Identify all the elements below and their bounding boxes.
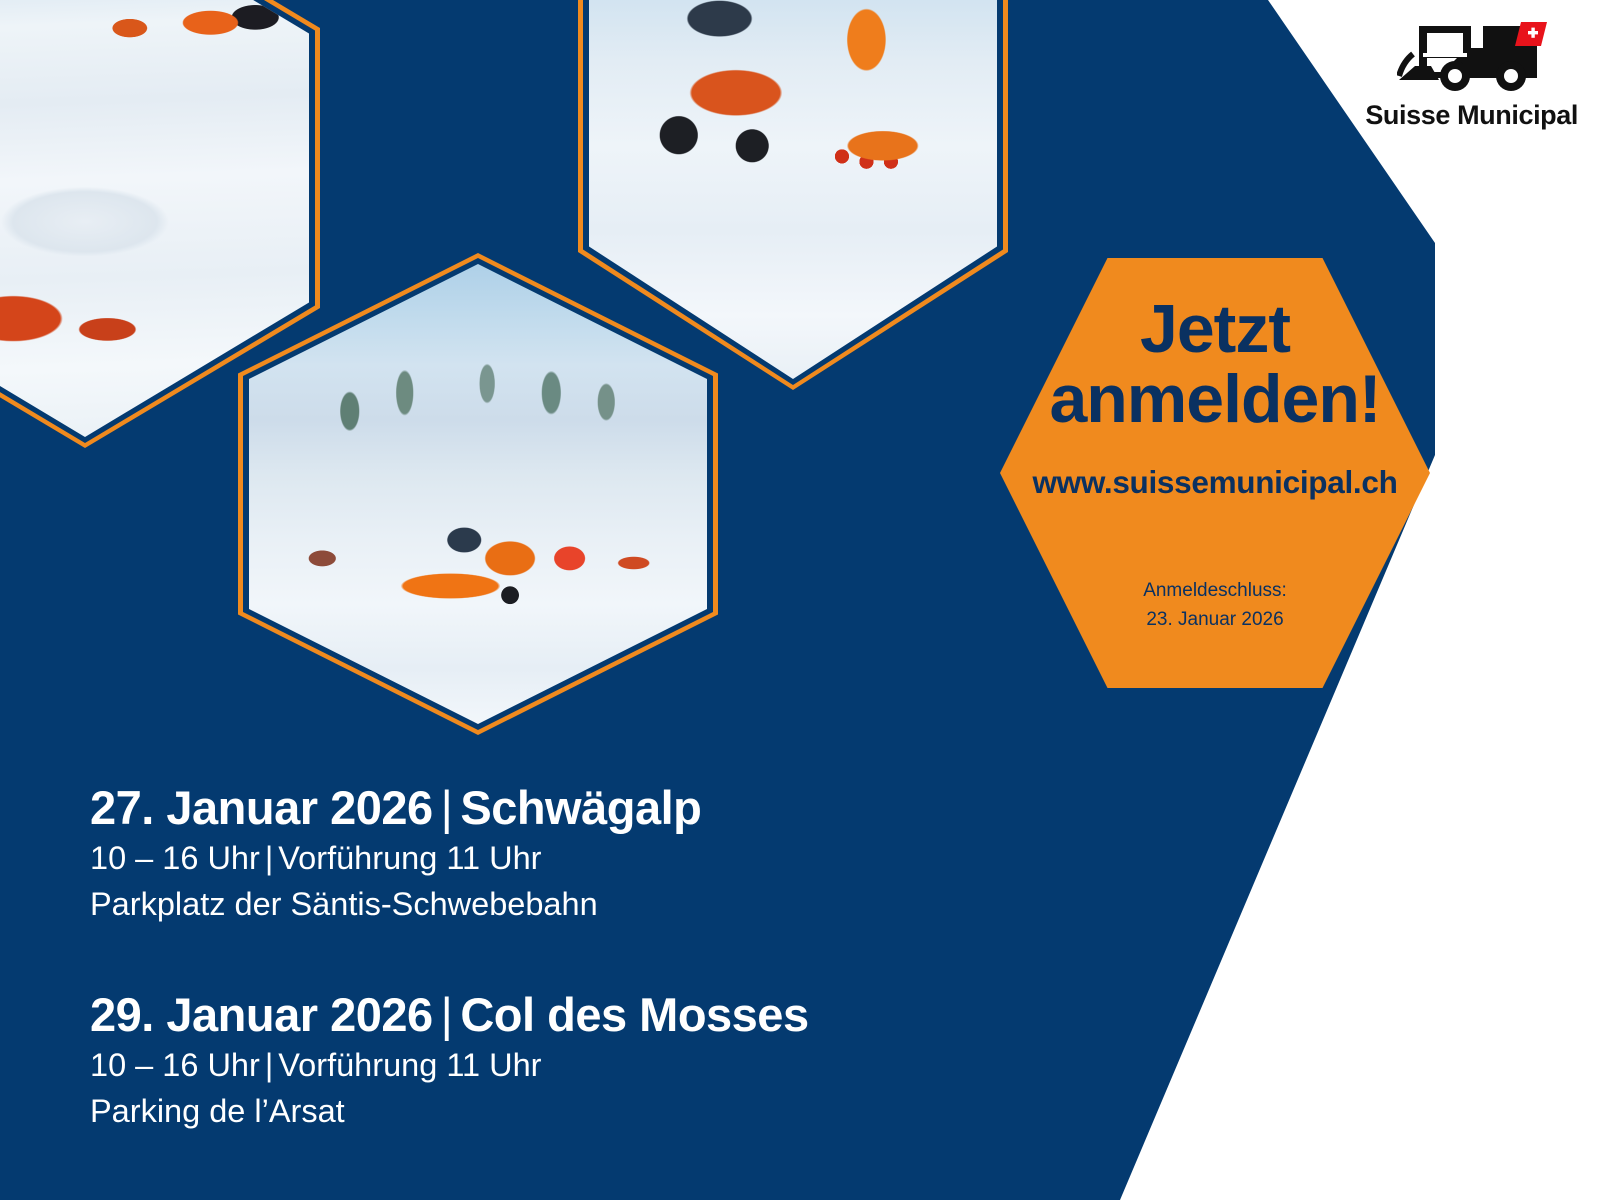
cta-deadline-label: Anmeldeschluss: <box>1143 577 1287 606</box>
event-venue: Parking de l’Arsat <box>90 1090 809 1134</box>
event-hours-line: 10 – 16 Uhr|Vorführung 11 Uhr <box>90 1044 809 1088</box>
event-demo: Vorführung 11 Uhr <box>278 840 541 876</box>
hex-photo-plow-truck-forest <box>238 253 718 735</box>
cta-headline-line1: Jetzt <box>1140 291 1290 367</box>
cta-website-url[interactable]: www.suissemunicipal.ch <box>1032 464 1397 501</box>
event-venue: Parkplatz der Säntis-Schwebebahn <box>90 883 809 927</box>
event-hours-separator: | <box>260 1047 278 1083</box>
logo-wordmark: Suisse Municipal <box>1365 100 1578 131</box>
event-demo: Vorführung 11 Uhr <box>278 1047 541 1083</box>
event-title-separator: | <box>433 988 461 1041</box>
event-date: 29. Januar 2026 <box>90 988 433 1041</box>
event-list: 27. Januar 2026|Schwägalp 10 – 16 Uhr|Vo… <box>90 780 809 1133</box>
event-title: 29. Januar 2026|Col des Mosses <box>90 987 809 1042</box>
suisse-municipal-logo: Suisse Municipal <box>1365 14 1578 131</box>
event-hours-line: 10 – 16 Uhr|Vorführung 11 Uhr <box>90 837 809 881</box>
event-date: 27. Januar 2026 <box>90 781 433 834</box>
event-hours: 10 – 16 Uhr <box>90 1047 260 1083</box>
event-hours-separator: | <box>260 840 278 876</box>
swiss-flag-icon <box>1515 22 1547 46</box>
cta-deadline: Anmeldeschluss: 23. Januar 2026 <box>1143 577 1287 635</box>
cta-headline-line2: anmelden! <box>1005 364 1425 434</box>
photo-image-plow-truck <box>249 264 707 724</box>
event-title: 27. Januar 2026|Schwägalp <box>90 780 809 835</box>
event-item: 29. Januar 2026|Col des Mosses 10 – 16 U… <box>90 987 809 1134</box>
event-location: Schwägalp <box>460 781 701 834</box>
hex-photo-clip <box>249 264 707 724</box>
event-poster: Jetzt anmelden! www.suissemunicipal.ch A… <box>0 0 1600 1200</box>
event-hours: 10 – 16 Uhr <box>90 840 260 876</box>
event-location: Col des Mosses <box>460 988 808 1041</box>
event-item: 27. Januar 2026|Schwägalp 10 – 16 Uhr|Vo… <box>90 780 809 927</box>
street-sweeper-truck-icon <box>1397 14 1547 92</box>
cta-deadline-date: 23. Januar 2026 <box>1143 606 1287 635</box>
event-title-separator: | <box>433 781 461 834</box>
